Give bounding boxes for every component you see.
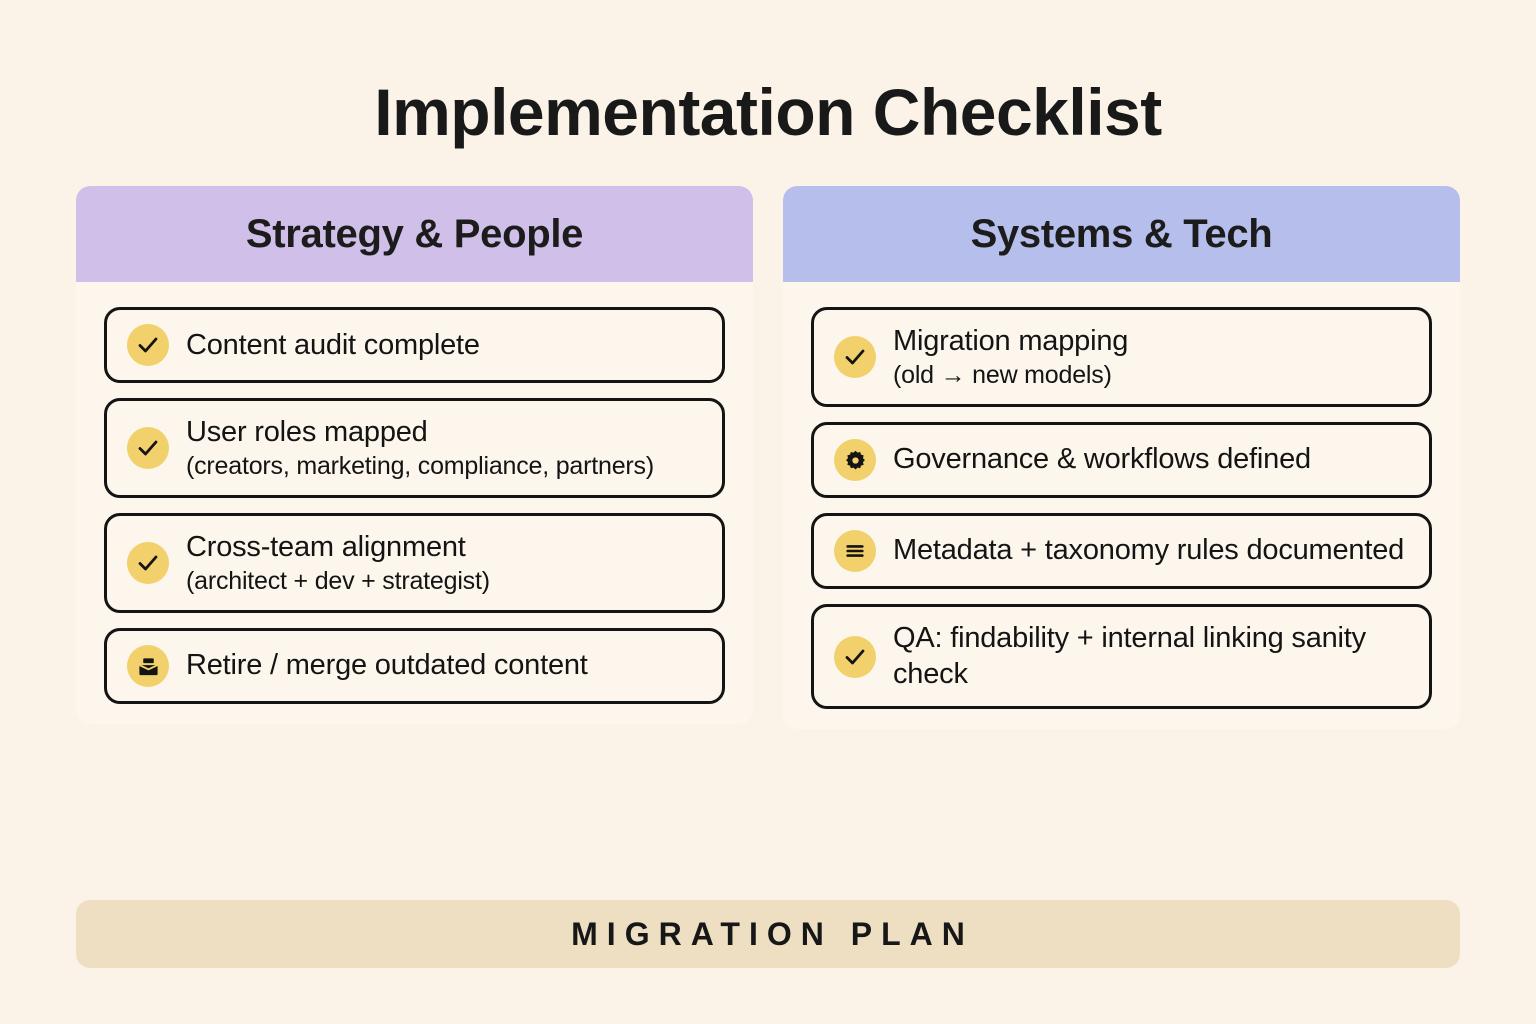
- check-icon: [127, 427, 169, 469]
- check-icon: [834, 336, 876, 378]
- page-title: Implementation Checklist: [0, 0, 1536, 147]
- checklist-item-title: Metadata + taxonomy rules documented: [893, 534, 1404, 566]
- checklist-item[interactable]: Retire / merge outdated content: [104, 628, 725, 704]
- checklist-item-title: Retire / merge outdated content: [186, 649, 588, 681]
- checklist-item-title: Content audit complete: [186, 329, 480, 361]
- checklist-item[interactable]: Governance & workflows defined: [811, 422, 1432, 498]
- checklist-items-strategy-people: Content audit complete User roles mapped…: [76, 282, 753, 704]
- column-header-strategy-people: Strategy & People: [76, 186, 753, 282]
- check-icon: [127, 542, 169, 584]
- checklist-item-title: Cross-team alignment: [186, 531, 466, 563]
- checklist-item-subtitle: (architect + dev + strategist): [186, 566, 490, 597]
- archive-box-icon: [127, 645, 169, 687]
- checklist-item-title: Governance & workflows defined: [893, 443, 1311, 475]
- column-header-systems-tech: Systems & Tech: [783, 186, 1460, 282]
- checklist-item[interactable]: Content audit complete: [104, 307, 725, 383]
- column-strategy-people: Strategy & People Content audit complete: [76, 186, 753, 724]
- column-systems-tech: Systems & Tech Migration mapping (old → …: [783, 186, 1460, 729]
- checklist-item-subtitle: (old → new models): [893, 360, 1128, 391]
- checklist-item-label: Content audit complete: [186, 328, 480, 363]
- checklist-items-systems-tech: Migration mapping (old → new models) Gov…: [783, 282, 1460, 709]
- checklist-page: Implementation Checklist Strategy & Peop…: [0, 0, 1536, 1024]
- checklist-columns: Strategy & People Content audit complete: [0, 147, 1536, 729]
- checklist-item-label: Metadata + taxonomy rules documented: [893, 533, 1404, 568]
- checklist-item-title: QA: findability + internal linking sanit…: [893, 622, 1366, 689]
- checklist-item-label: Governance & workflows defined: [893, 442, 1311, 477]
- checklist-item-subtitle: (creators, marketing, compliance, partne…: [186, 451, 654, 482]
- gear-icon: [834, 439, 876, 481]
- checklist-item[interactable]: Migration mapping (old → new models): [811, 307, 1432, 407]
- footer-banner: MIGRATION PLAN: [76, 900, 1460, 968]
- checklist-item-label: QA: findability + internal linking sanit…: [893, 621, 1409, 692]
- checklist-item[interactable]: Metadata + taxonomy rules documented: [811, 513, 1432, 589]
- checklist-item-label: Migration mapping (old → new models): [893, 324, 1128, 390]
- footer-label: MIGRATION PLAN: [562, 916, 974, 953]
- checklist-item-label: Retire / merge outdated content: [186, 648, 588, 683]
- checklist-item-label: Cross-team alignment (architect + dev + …: [186, 530, 490, 596]
- checklist-item[interactable]: QA: findability + internal linking sanit…: [811, 604, 1432, 709]
- checklist-item[interactable]: Cross-team alignment (architect + dev + …: [104, 513, 725, 613]
- check-icon: [834, 636, 876, 678]
- checklist-item-title: Migration mapping: [893, 325, 1128, 357]
- checklist-item[interactable]: User roles mapped (creators, marketing, …: [104, 398, 725, 498]
- check-icon: [127, 324, 169, 366]
- list-lines-icon: [834, 530, 876, 572]
- checklist-item-title: User roles mapped: [186, 416, 428, 448]
- checklist-item-label: User roles mapped (creators, marketing, …: [186, 415, 654, 481]
